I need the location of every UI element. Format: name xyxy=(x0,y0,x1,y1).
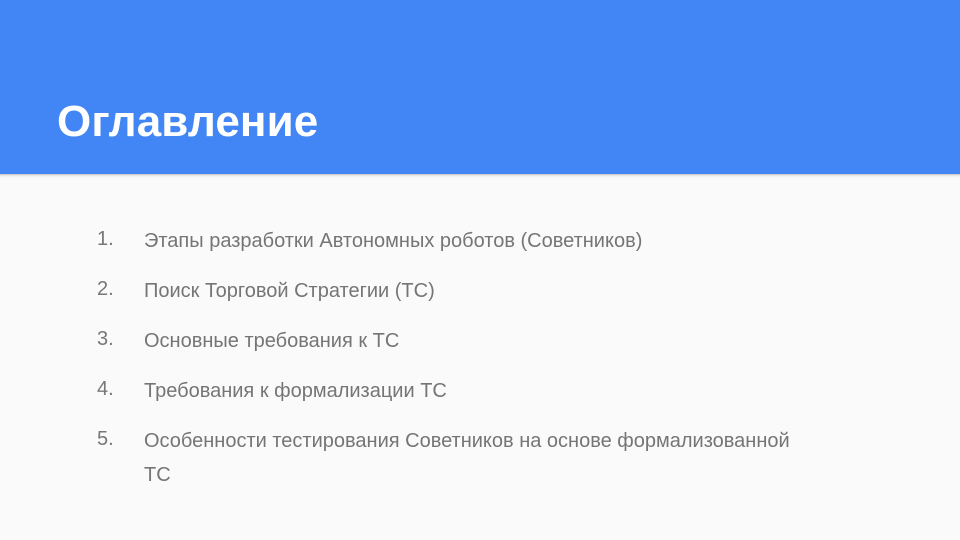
list-item: 2. Поиск Торговой Стратегии (ТС) xyxy=(97,274,857,308)
slide-header-band: Оглавление xyxy=(0,0,960,174)
list-item-label: Основные требования к ТС xyxy=(144,324,804,358)
list-item-label: Этапы разработки Автономных роботов (Сов… xyxy=(144,224,804,258)
list-item-label: Требования к формализации ТС xyxy=(144,374,804,408)
list-item-label: Особенности тестирования Советников на о… xyxy=(144,424,804,492)
list-item-number: 2. xyxy=(97,274,144,304)
list-item: 5. Особенности тестирования Советников н… xyxy=(97,424,857,492)
table-of-contents-list: 1. Этапы разработки Автономных роботов (… xyxy=(57,224,857,508)
header-drop-shadow xyxy=(0,174,960,180)
list-item: 4. Требования к формализации ТС xyxy=(97,374,857,408)
presentation-slide: Оглавление 1. Этапы разработки Автономны… xyxy=(0,0,960,540)
list-item-number: 1. xyxy=(97,224,144,254)
list-item-number: 5. xyxy=(97,424,144,454)
list-item-number: 4. xyxy=(97,374,144,404)
page-title: Оглавление xyxy=(57,95,318,149)
list-item-number: 3. xyxy=(97,324,144,354)
list-item: 3. Основные требования к ТС xyxy=(97,324,857,358)
list-item: 1. Этапы разработки Автономных роботов (… xyxy=(97,224,857,258)
list-item-label: Поиск Торговой Стратегии (ТС) xyxy=(144,274,804,308)
